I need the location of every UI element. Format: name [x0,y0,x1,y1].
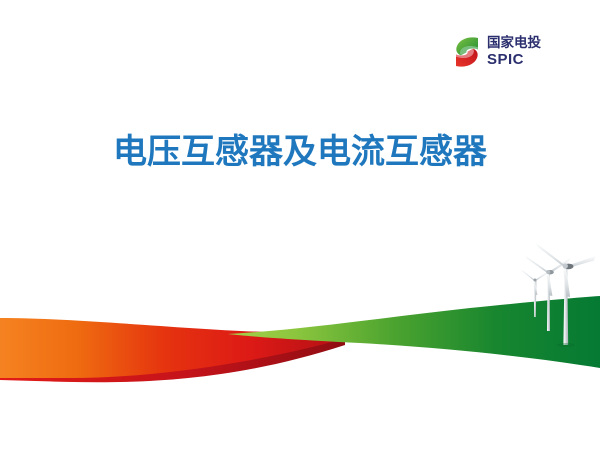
presentation-slide: 国家电投 SPIC 电压互感器及电流互感器 [0,0,600,450]
logo-chinese-name: 国家电投 [487,37,541,51]
spic-logo: 国家电投 SPIC [452,31,552,73]
logo-wordmark: 国家电投 SPIC [487,37,541,68]
logo-english-name: SPIC [487,52,541,67]
wind-turbine-small [521,269,548,317]
wind-turbine-medium [525,255,571,331]
orange-red-ribbon [0,318,346,378]
spic-emblem-icon [452,35,482,69]
wind-turbine-large [535,242,596,347]
slide-title: 电压互感器及电流互感器 [0,124,600,173]
red-ribbon-lower [0,338,345,382]
green-ribbon [228,296,600,368]
